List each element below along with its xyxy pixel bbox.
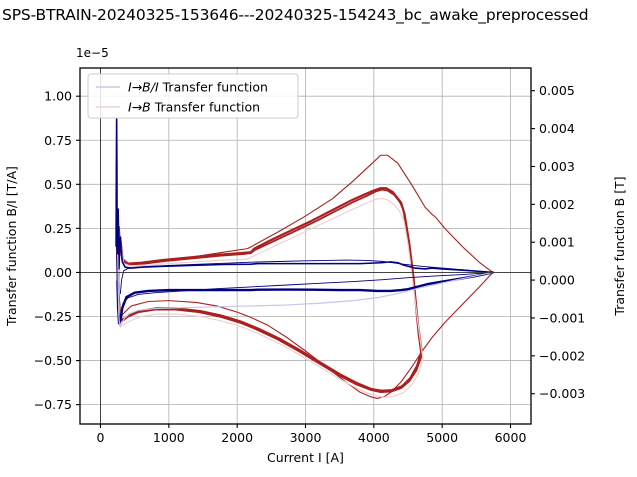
y-tick-label-right: 0.002 <box>539 197 575 212</box>
y-tick-label-right: 0.005 <box>539 83 575 98</box>
series-line-7 <box>118 267 423 397</box>
x-tick-label: 3000 <box>290 430 322 445</box>
x-tick-label: 6000 <box>495 430 527 445</box>
axis-labels: Current I [A]Transfer function B/I [T/A]… <box>4 166 627 465</box>
y-tick-label-left: −0.75 <box>34 397 72 412</box>
y-tick-label-left: 1.00 <box>44 89 72 104</box>
x-tick-label: 5000 <box>426 430 458 445</box>
series-line-1 <box>117 265 492 398</box>
matplotlib-figure: SPS-BTRAIN-20240325-153646---20240325-15… <box>0 0 637 477</box>
x-tick-label: 4000 <box>358 430 390 445</box>
x-tick-label: 0 <box>97 430 105 445</box>
y-tick-label-right: −0.001 <box>539 310 585 325</box>
y-tick-label-right: 0.000 <box>539 273 575 288</box>
series-line-10 <box>121 272 493 311</box>
y-tick-label-left: 0.00 <box>44 265 72 280</box>
y-axis-label-right: Transfer function B [T] <box>612 176 627 316</box>
x-tick-label: 2000 <box>221 430 253 445</box>
y-tick-label-right: −0.002 <box>539 348 585 363</box>
chart-canvas: 01000200030004000500060001.000.750.500.2… <box>0 0 637 477</box>
y-tick-label-right: 0.003 <box>539 159 575 174</box>
y-tick-label-left: −0.25 <box>34 309 72 324</box>
legend-label-0: I→B/I Transfer function <box>128 80 268 95</box>
series-line-0 <box>116 155 493 281</box>
y-axis-label-left: Transfer function B/I [T/A] <box>4 166 19 327</box>
series-line-9 <box>117 272 492 323</box>
y-tick-label-right: 0.001 <box>539 235 575 250</box>
y-tick-label-right: 0.004 <box>539 121 575 136</box>
y-tick-label-left: −0.50 <box>34 353 72 368</box>
legend[interactable]: I→B/I Transfer functionI→B Transfer func… <box>88 74 298 118</box>
y-tick-label-left: 0.75 <box>44 133 72 148</box>
y-tick-label-left: 0.50 <box>44 177 72 192</box>
y-tick-label-right: −0.003 <box>539 386 585 401</box>
legend-label-1: I→B Transfer function <box>128 100 260 115</box>
series-line-3 <box>118 264 422 392</box>
series-line-2 <box>117 188 422 355</box>
y-tick-label-left: 0.25 <box>44 221 72 236</box>
grid-lines <box>80 68 531 424</box>
x-axis-label: Current I [A] <box>267 450 344 465</box>
x-tick-label: 1000 <box>153 430 185 445</box>
